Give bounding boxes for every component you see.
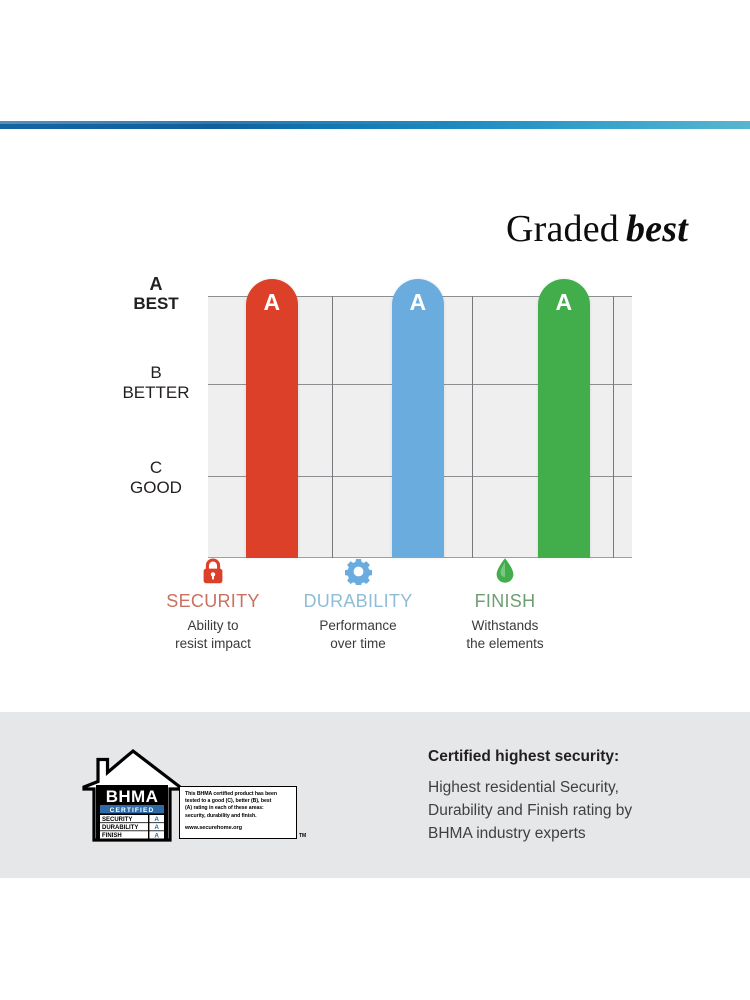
y-axis-tier-b: B BETTER	[110, 363, 202, 403]
category-durability: DURABILITY Performance over time	[273, 556, 443, 653]
category-durability-desc-line1: Performance	[319, 618, 396, 633]
bhma-note-line2: tested to a good (C), better (B), best	[185, 798, 291, 805]
svg-text:DURABILITY: DURABILITY	[102, 825, 138, 831]
y-axis-tier-a-grade: A	[110, 274, 202, 294]
chart-bars: A A A	[208, 278, 632, 558]
bar-security: A	[246, 279, 298, 558]
page-title-emphasis: best	[626, 208, 688, 250]
header-accent-rule	[0, 121, 750, 129]
bhma-badge-note: This BHMA certified product has been tes…	[179, 786, 297, 839]
page-title: Gradedbest	[506, 210, 688, 248]
category-finish-desc-line2: the elements	[466, 636, 543, 651]
bar-durability: A	[392, 279, 444, 558]
page-title-regular: Graded	[506, 208, 619, 250]
y-axis-tier-b-word: BETTER	[110, 383, 202, 403]
bhma-note-line3: (A) rating in each of these areas:	[185, 805, 291, 812]
footer-heading: Certified highest security:	[428, 747, 718, 767]
bar-finish: A	[538, 279, 590, 558]
footer-copy: Certified highest security: Highest resi…	[428, 747, 718, 845]
accent-rule-highlight	[0, 121, 435, 124]
footer-body-line3: BHMA industry experts	[428, 825, 586, 842]
y-axis-tier-c-grade: C	[110, 458, 202, 478]
chart-y-axis: A BEST B BETTER C GOOD	[110, 268, 202, 530]
footer-body-line1: Highest residential Security,	[428, 779, 619, 796]
bar-finish-grade: A	[538, 289, 590, 316]
svg-text:FINISH: FINISH	[102, 833, 122, 839]
y-axis-tier-a: A BEST	[110, 274, 202, 314]
gear-icon	[273, 556, 443, 586]
footer-body-line2: Durability and Finish rating by	[428, 802, 632, 819]
bar-security-grade: A	[246, 289, 298, 316]
svg-text:A: A	[154, 816, 159, 823]
y-axis-tier-c-word: GOOD	[110, 478, 202, 498]
bhma-note-url[interactable]: www.securehome.org	[185, 825, 291, 832]
category-durability-description: Performance over time	[273, 617, 443, 653]
footer-body: Highest residential Security, Durability…	[428, 776, 718, 845]
category-finish-description: Withstands the elements	[420, 617, 590, 653]
bhma-trademark-symbol: TM	[299, 833, 306, 839]
svg-text:CERTIFIED: CERTIFIED	[110, 807, 155, 814]
grade-chart: A BEST B BETTER C GOOD A A	[110, 268, 650, 558]
category-durability-title: DURABILITY	[273, 590, 443, 612]
svg-text:BHMA: BHMA	[106, 787, 159, 806]
bhma-note-line4: security, durability and finish.	[185, 813, 291, 820]
bhma-note-line1: This BHMA certified product has been	[185, 791, 291, 798]
water-droplet-icon	[420, 556, 590, 586]
category-finish-title: FINISH	[420, 590, 590, 612]
y-axis-tier-a-word: BEST	[110, 294, 202, 314]
y-axis-tier-b-grade: B	[110, 363, 202, 383]
svg-text:A: A	[154, 832, 159, 839]
category-legend: SECURITY Ability to resist impact DURABI…	[110, 556, 650, 666]
bhma-certified-badge: BHMA CERTIFIED SECURITY A DURABILITY A F…	[80, 745, 310, 845]
category-finish-desc-line1: Withstands	[472, 618, 539, 633]
y-axis-tier-c: C GOOD	[110, 458, 202, 498]
bhma-house-logo: BHMA CERTIFIED SECURITY A DURABILITY A F…	[80, 745, 188, 844]
category-finish: FINISH Withstands the elements	[420, 556, 590, 653]
category-durability-desc-line2: over time	[330, 636, 386, 651]
category-security-desc-line2: resist impact	[175, 636, 251, 651]
svg-text:A: A	[154, 824, 159, 831]
bar-durability-grade: A	[392, 289, 444, 316]
category-security-desc-line1: Ability to	[187, 618, 238, 633]
chart-plot-area: A A A	[208, 296, 632, 558]
svg-text:SECURITY: SECURITY	[102, 817, 132, 823]
